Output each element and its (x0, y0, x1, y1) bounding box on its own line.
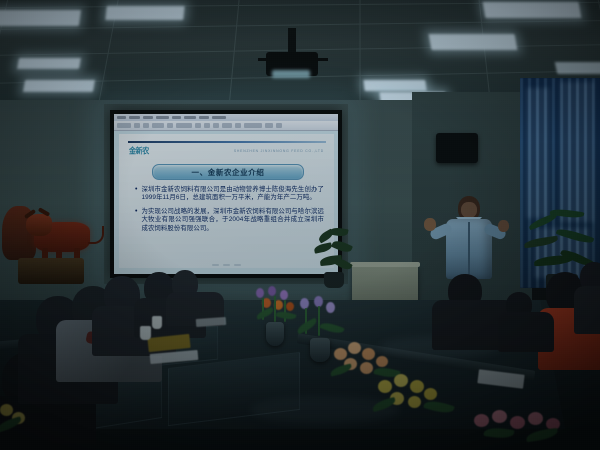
bloom (528, 412, 543, 425)
potted-plant-left (312, 228, 356, 288)
vase (266, 322, 284, 346)
presenter-right-hand (498, 220, 509, 232)
projector-lens-icon (272, 70, 310, 78)
menu-item[interactable] (156, 116, 169, 119)
presenter-left-hand (424, 218, 436, 231)
menu-item[interactable] (117, 116, 126, 119)
slide-status-bar (119, 263, 334, 267)
logo-subtitle: SHENZHEN JINXINNONG FEED CO.,LTD (234, 149, 324, 153)
status-blip (212, 264, 219, 266)
status-blip (223, 264, 230, 266)
bloom (510, 416, 525, 429)
sculpture-base (18, 258, 84, 284)
bullet-marker: • (135, 208, 137, 233)
bullet-text: 为实现公司战略的发展，深圳市金新农饲料有限公司与哈尔滨远大牧业有限公司强强联合，… (141, 208, 324, 233)
plant-leaf (329, 226, 348, 237)
toolbar-button[interactable] (244, 123, 262, 128)
ceiling-light-panel (483, 2, 582, 18)
menu-item[interactable] (184, 116, 196, 119)
foliage (319, 320, 344, 336)
bloom (256, 288, 264, 298)
bloom (474, 414, 489, 427)
foliage (525, 428, 558, 442)
toolbar-button[interactable] (213, 123, 219, 128)
presenter-shirt-placket (468, 222, 470, 274)
palm-frond (524, 236, 559, 249)
projection-screen-frame: 金新农 SHENZHEN JINXINNONG FEED CO.,LTD 一、金… (110, 110, 342, 278)
toolbar-button[interactable] (204, 123, 210, 128)
plant-leaf (331, 238, 353, 254)
bullet-text: 深圳市金新农饲料有限公司是由动物营养博士陈俊海先生创办了1999年11月6日，总… (141, 186, 324, 203)
plant-leaf (333, 256, 353, 272)
foliage (423, 398, 455, 416)
list-item: • 深圳市金新农饲料有限公司是由动物营养博士陈俊海先生创办了1999年11月6日… (135, 186, 324, 203)
toolbar-button[interactable] (195, 123, 201, 128)
bloom (362, 348, 375, 360)
toolbar-button[interactable] (134, 123, 140, 128)
projection-screen: 金新农 SHENZHEN JINXINNONG FEED CO.,LTD 一、金… (114, 114, 338, 274)
slide-title-band: 一、金新农企业介绍 (152, 164, 304, 180)
ceiling-light-panel (429, 34, 518, 50)
presenter-face (461, 202, 477, 218)
rose-arrangement-yellow-left (0, 398, 56, 450)
toolbar-button[interactable] (143, 123, 149, 128)
ceiling-light-panel (105, 6, 184, 20)
bullet-marker: • (135, 186, 137, 203)
plant-pot (324, 272, 344, 288)
list-item: • 为实现公司战略的发展，深圳市金新农饲料有限公司与哈尔滨远大牧业有限公司强强联… (135, 208, 324, 233)
menu-item[interactable] (199, 116, 209, 119)
bloom (410, 380, 424, 393)
status-blip (234, 264, 241, 266)
bloom (376, 356, 388, 367)
podium-top (350, 262, 420, 267)
foliage (255, 307, 274, 320)
projector-mount-icon (288, 28, 296, 54)
ceiling-light-panel (23, 80, 95, 92)
toolbar-button[interactable] (222, 123, 232, 128)
menu-item[interactable] (143, 116, 153, 119)
bloom (492, 410, 507, 423)
vase (310, 338, 330, 362)
paper-cup[interactable] (140, 326, 151, 340)
attendee-body (574, 286, 600, 334)
bloom (268, 286, 276, 296)
bloom (280, 290, 288, 300)
toolbar-button[interactable] (265, 123, 273, 128)
foliage (371, 397, 397, 412)
conference-room-photo: 金新农 SHENZHEN JINXINNONG FEED CO.,LTD 一、金… (0, 0, 600, 450)
foliage (295, 318, 318, 335)
bloom (326, 302, 335, 313)
bloom (378, 380, 392, 393)
menu-item[interactable] (129, 116, 140, 119)
attendee-body (498, 312, 554, 352)
bloom (394, 374, 408, 387)
attendee-right-3 (576, 262, 600, 332)
slide-bullet-list: • 深圳市金新农饲料有限公司是由动物营养博士陈俊海先生创办了1999年11月6日… (135, 186, 324, 238)
plant-leaf (313, 242, 332, 254)
bloom (408, 396, 421, 408)
toolbar-button[interactable] (235, 123, 241, 128)
paper-cup[interactable] (152, 316, 162, 329)
foliage (483, 426, 514, 440)
wall-speaker-icon (436, 133, 478, 163)
rose-arrangement-pink (470, 406, 580, 450)
app-menubar[interactable] (114, 114, 338, 121)
palm-frond (556, 226, 595, 245)
slide-canvas: 金新农 SHENZHEN JINXINNONG FEED CO.,LTD 一、金… (119, 134, 334, 268)
foliage (0, 416, 23, 433)
logo-text: 金新农 (129, 148, 149, 156)
attendee-right-4 (498, 292, 552, 348)
stem (274, 296, 276, 322)
app-toolbar[interactable] (114, 121, 338, 131)
rose-arrangement-yellow (372, 370, 468, 426)
bloom (334, 348, 347, 360)
bloom (0, 404, 13, 416)
menu-item[interactable] (172, 116, 181, 119)
bloom (348, 342, 361, 354)
ceiling-light-panel (0, 10, 81, 26)
ceiling-light-panel (363, 80, 426, 91)
toolbar-button[interactable] (176, 123, 192, 128)
toolbar-button[interactable] (167, 123, 173, 128)
stem (318, 306, 320, 336)
toolbar-button[interactable] (152, 123, 164, 128)
menu-item[interactable] (212, 116, 226, 119)
ceiling-light-panel (555, 62, 600, 74)
bull-tail (88, 226, 104, 244)
toolbar-button[interactable] (276, 123, 282, 128)
company-logo: 金新农 (129, 145, 149, 157)
bloom (286, 302, 294, 311)
ceiling-light-panel (17, 58, 81, 69)
foliage (275, 309, 296, 321)
attendee-left-6 (166, 270, 224, 322)
slide-header-rule (128, 141, 326, 143)
foliage (329, 363, 352, 376)
bloom (424, 388, 437, 400)
toolbar-button[interactable] (117, 123, 131, 128)
bull-head (26, 214, 52, 236)
